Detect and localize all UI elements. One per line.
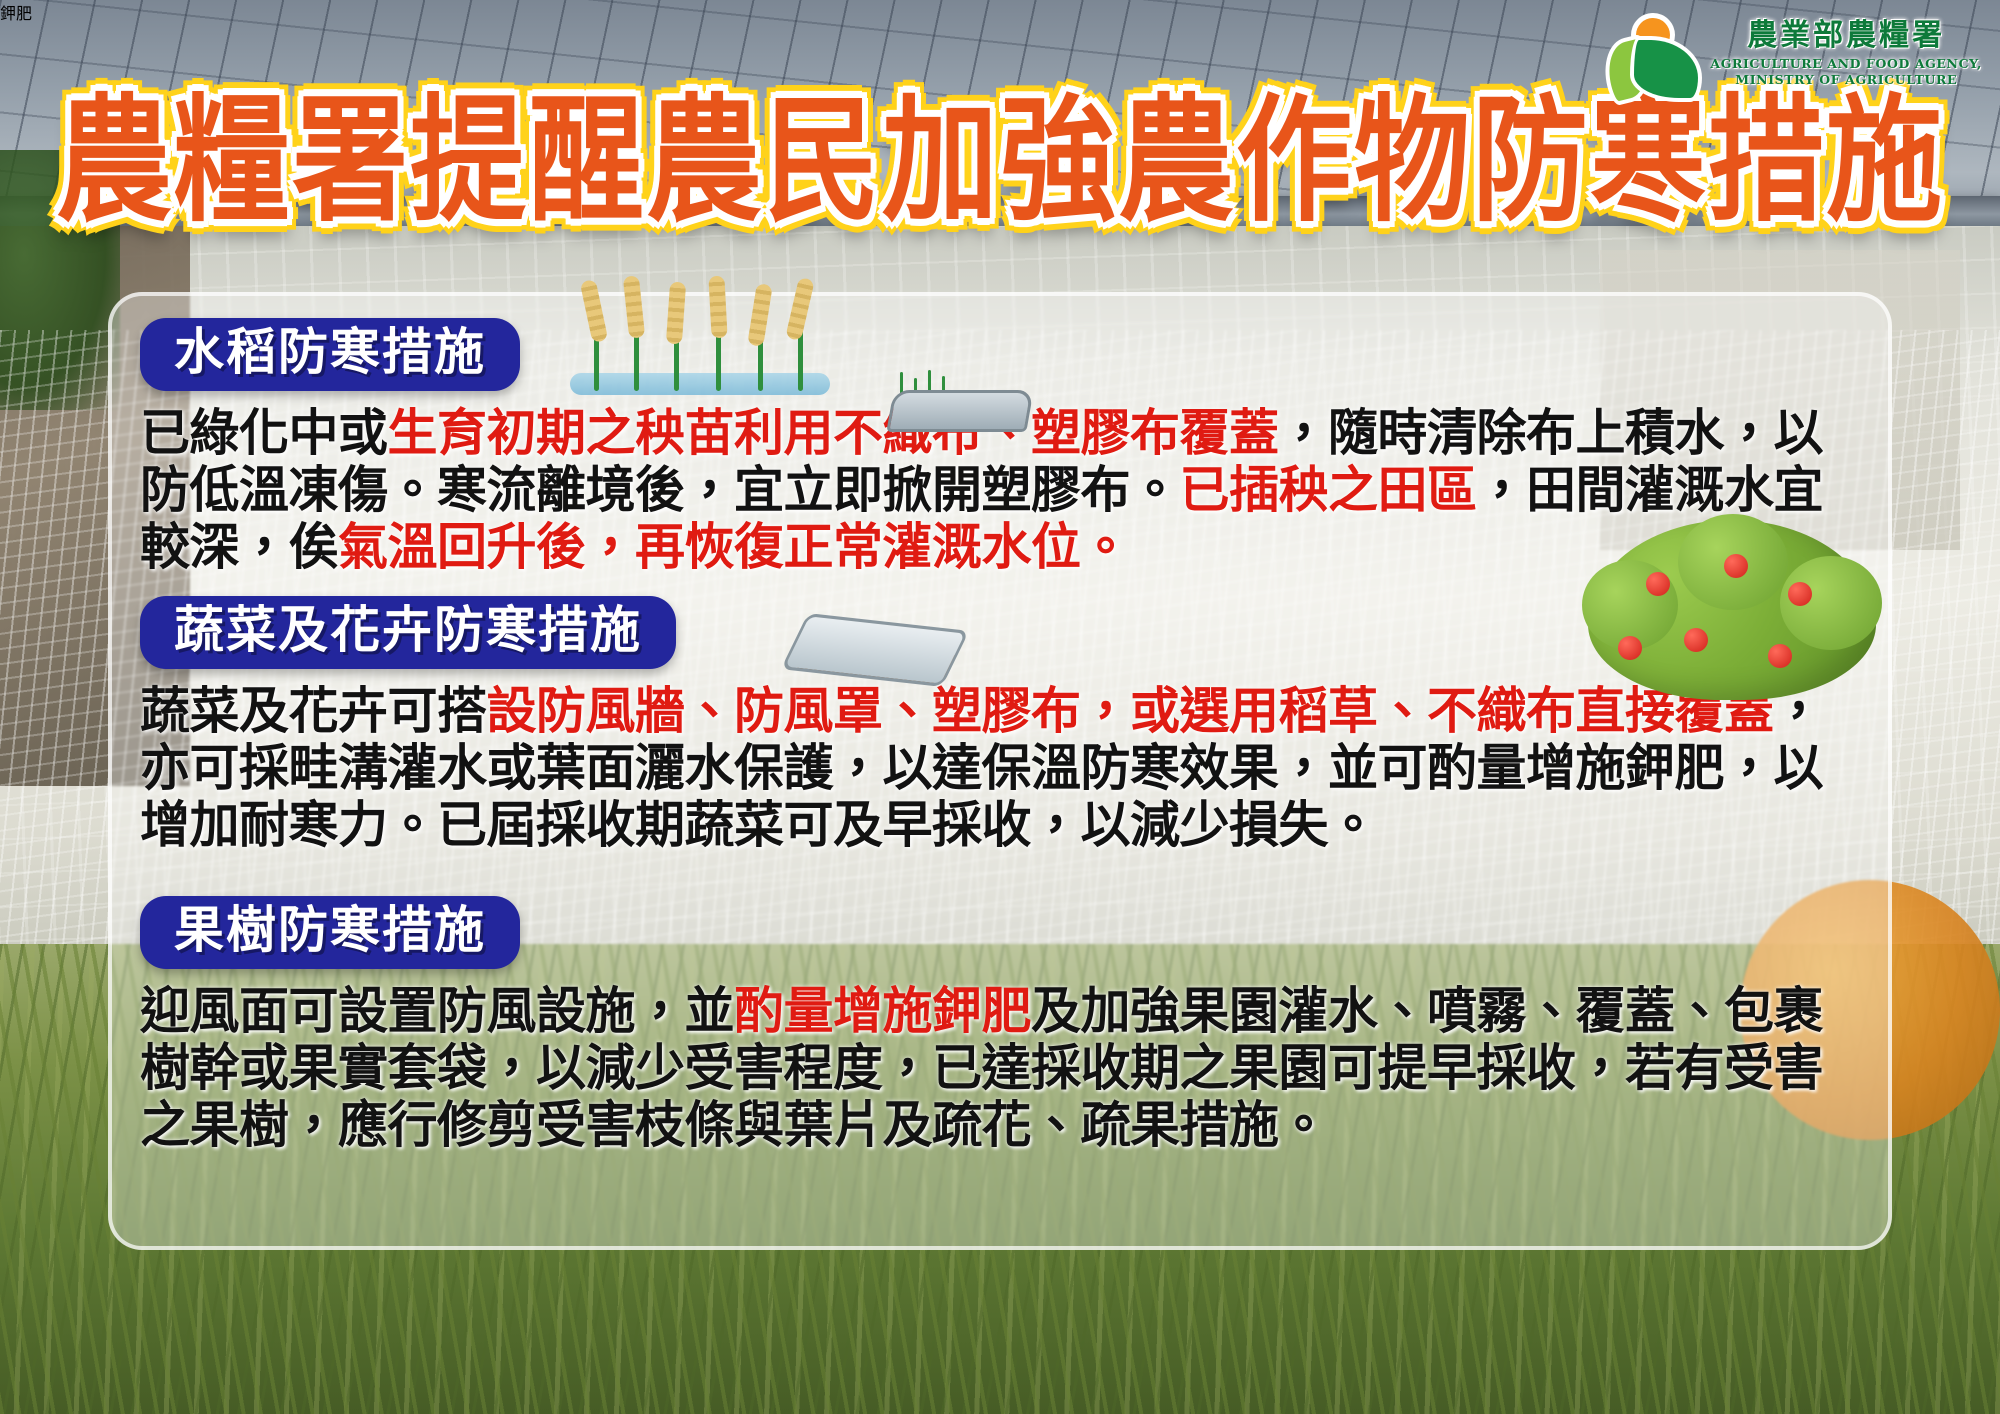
agency-name-en: AGRICULTURE AND FOOD AGENCY, MINISTRY OF… xyxy=(1710,56,1982,87)
body-text-highlight: 已插秧之田區 xyxy=(1180,461,1477,519)
section-heading-fruit-trees: 果樹防寒措施 xyxy=(140,896,520,969)
agency-name-en-line1: AGRICULTURE AND FOOD AGENCY, xyxy=(1710,56,1982,72)
plastic-cover-icon xyxy=(886,390,1033,432)
body-text-plain: 蔬菜及花卉可搭 xyxy=(140,682,487,740)
agency-logo-text: 農業部農糧署 AGRICULTURE AND FOOD AGENCY, MINI… xyxy=(1710,21,1982,87)
body-text-highlight: 酌量增施鉀肥 xyxy=(734,982,1031,1040)
sack-label-text: 鉀肥 xyxy=(0,0,32,24)
section-body-fruit-trees: 迎風面可設置防風設施，並酌量增施鉀肥及加強果園灌水、噴霧、覆蓋、包裹樹幹或果實套… xyxy=(140,983,1860,1154)
bed-cover-icon xyxy=(781,613,970,687)
agency-logo: 農業部農糧署 AGRICULTURE AND FOOD AGENCY, MINI… xyxy=(1606,8,1982,100)
row-cover-tunnel-icon xyxy=(890,370,1030,432)
section-fruit-trees: 果樹防寒措施 迎風面可設置防風設施，並酌量增施鉀肥及加強果園灌水、噴霧、覆蓋、包… xyxy=(140,896,1860,1154)
poster-root: 農業部農糧署 AGRICULTURE AND FOOD AGENCY, MINI… xyxy=(0,0,2000,1414)
body-text-highlight: 設防風牆、防風罩、塑膠布，或選用稻草、不織布直接覆蓋 xyxy=(487,682,1774,740)
vegetable-bed-icon xyxy=(790,610,980,702)
fruit-tree-icon xyxy=(1582,520,1882,890)
page-title: 農糧署提醒農民加強農作物防寒措施 xyxy=(56,94,1944,231)
fertilizer-sack-icon: 鉀肥 xyxy=(0,0,32,24)
logo-leaf-dark-icon xyxy=(1634,40,1698,98)
body-text-plain: 迎風面可設置防風設施，並 xyxy=(140,982,734,1040)
section-heading-vegetables-flowers: 蔬菜及花卉防寒措施 xyxy=(140,596,676,669)
agency-name-en-line2: MINISTRY OF AGRICULTURE xyxy=(1710,72,1982,88)
rice-plants-icon xyxy=(570,276,860,391)
body-text-highlight: 生育初期之秧苗利用不織布、塑膠布覆蓋 xyxy=(388,404,1279,462)
agency-logo-mark-icon xyxy=(1606,8,1702,100)
section-heading-rice: 水稻防寒措施 xyxy=(140,318,520,391)
body-text-plain: 已綠化中或 xyxy=(140,404,388,462)
body-text-highlight: 氣溫回升後，再恢復正常灌溉水位。 xyxy=(338,518,1130,576)
paddy-water-icon xyxy=(570,373,830,395)
agency-name-zh: 農業部農糧署 xyxy=(1710,21,1982,51)
tree-trunk-icon xyxy=(1718,680,1750,866)
main-title-container: 農糧署提醒農民加強農作物防寒措施 xyxy=(0,96,2000,228)
